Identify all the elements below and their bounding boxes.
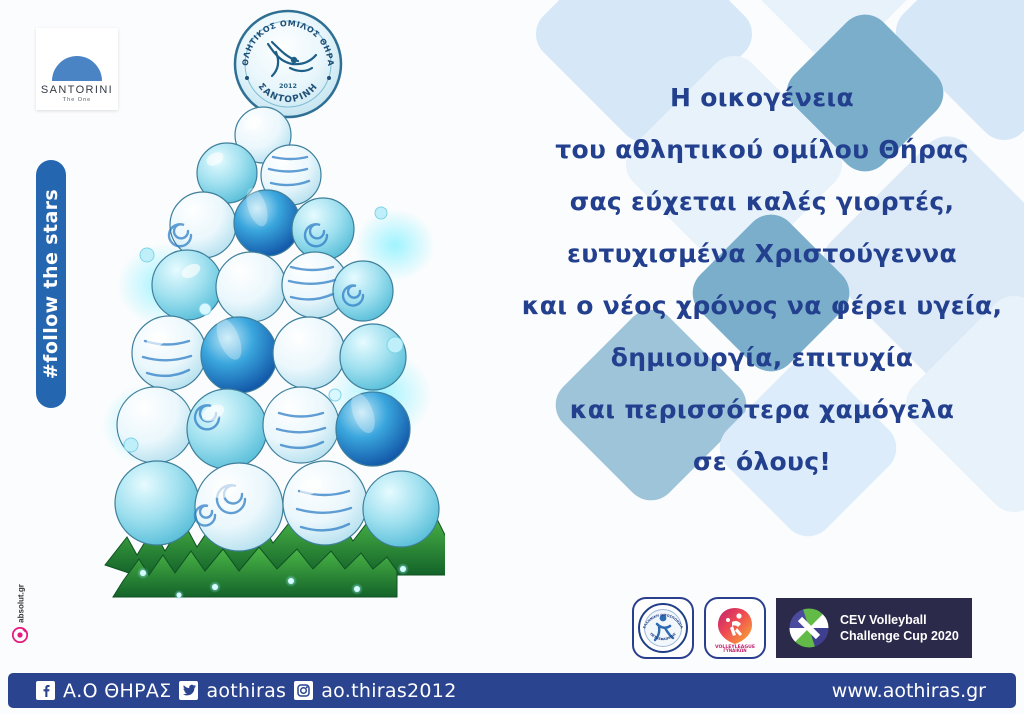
dome-icon xyxy=(52,56,102,81)
greeting-line: σας εύχεται καλές γιορτές, xyxy=(512,176,1012,228)
greeting-line: και ο νέος χρόνος να φέρει υγεία, xyxy=(512,280,1012,332)
follow-tab-label: #follow the stars xyxy=(40,189,62,379)
greeting-line: και περισσότερα χαμόγελα xyxy=(512,384,1012,436)
facebook-handle[interactable]: Α.Ο ΘΗΡΑΣ xyxy=(63,680,171,702)
credit-label: absolut.gr xyxy=(17,581,26,627)
sponsor-cev-challenge-cup-logo: CEV Volleyball Challenge Cup 2020 xyxy=(776,598,972,658)
christmas-tree-illustration xyxy=(95,95,445,615)
greeting-line: του αθλητικού ομίλου Θήρας xyxy=(512,124,1012,176)
absolut-logo-icon xyxy=(12,627,28,643)
twitter-icon[interactable] xyxy=(179,681,198,700)
sponsor-volleyleague-logo: VOLLEYLEAGUE ΓΥΝΑΙΚΩΝ xyxy=(704,597,766,659)
instagram-icon[interactable] xyxy=(294,681,313,700)
footer-bar: Α.Ο ΘΗΡΑΣ aothiras ao.thiras2012 www.aot… xyxy=(8,673,1016,708)
cev-pinwheel-icon xyxy=(787,606,831,650)
designer-credit[interactable]: absolut.gr xyxy=(8,583,34,645)
greeting-message: Η οικογένεια του αθλητικού ομίλου Θήρας … xyxy=(512,72,1012,488)
greeting-line: σε όλους! xyxy=(512,436,1012,488)
svg-text:2012: 2012 xyxy=(279,82,297,90)
twitter-handle[interactable]: aothiras xyxy=(206,680,286,702)
svg-text:ΓΥΝΑΙΚΩΝ: ΓΥΝΑΙΚΩΝ xyxy=(723,648,746,653)
cev-label-line1: CEV Volleyball xyxy=(840,612,959,628)
cev-label-line2: Challenge Cup 2020 xyxy=(840,628,959,644)
social-links: Α.Ο ΘΗΡΑΣ aothiras ao.thiras2012 xyxy=(36,680,457,702)
greeting-line: ευτυχισμένα Χριστούγεννα xyxy=(512,228,1012,280)
instagram-handle[interactable]: ao.thiras2012 xyxy=(321,680,456,702)
sponsor-logos: ΕΛΛΗΝΙΚΗ ΟΜΟΣΠΟΝΔΙΑ ΠΕΤΟΣΦΑΙΡΙΣΗΣ xyxy=(632,597,972,659)
website-url[interactable]: www.aothiras.gr xyxy=(832,680,986,702)
facebook-icon[interactable] xyxy=(36,681,55,700)
greeting-line: δημιουργία, επιτυχία xyxy=(512,332,1012,384)
sponsor-hellenic-volleyball-federation-logo: ΕΛΛΗΝΙΚΗ ΟΜΟΣΠΟΝΔΙΑ ΠΕΤΟΣΦΑΙΡΙΣΗΣ xyxy=(632,597,694,659)
santorini-tagline: The One xyxy=(63,97,91,103)
greeting-line: Η οικογένεια xyxy=(512,72,1012,124)
follow-the-stars-tab[interactable]: #follow the stars xyxy=(36,160,66,408)
greeting-card: SANTORINI The One #follow the stars xyxy=(0,0,1024,714)
